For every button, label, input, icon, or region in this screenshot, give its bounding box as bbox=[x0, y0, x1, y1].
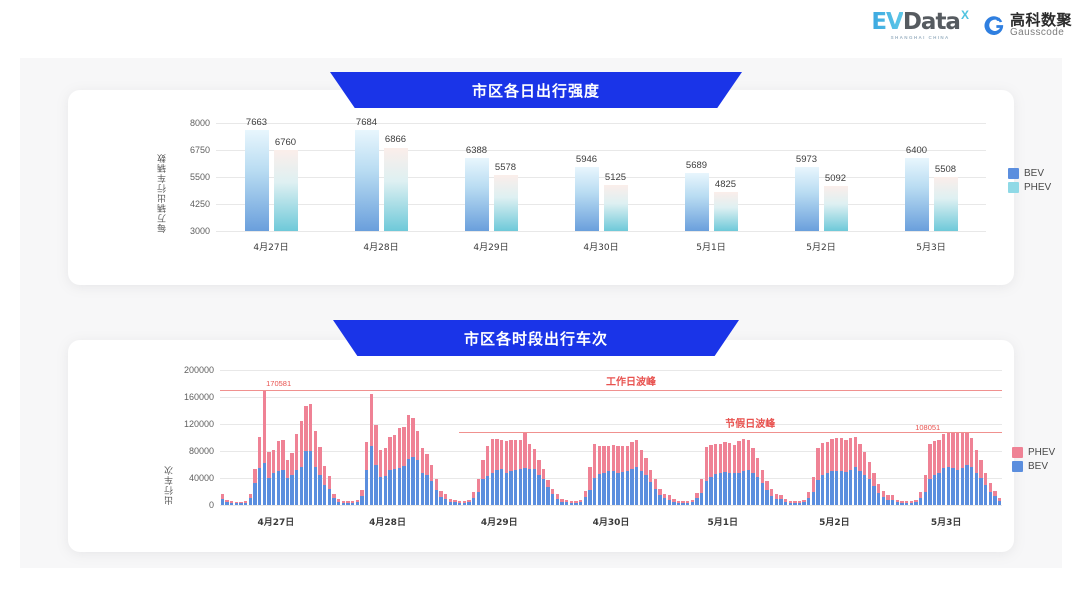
chart2-segment-bev bbox=[398, 468, 401, 505]
chart1-bar-phev bbox=[714, 192, 738, 231]
chart1-x-tick-label: 5月1日 bbox=[666, 240, 756, 253]
chart2-segment-bev bbox=[900, 503, 903, 505]
chart2-segment-bev bbox=[239, 503, 242, 505]
chart2-segment-bev bbox=[612, 471, 615, 505]
chart2-stacked-bar bbox=[626, 446, 629, 505]
page-header: EV Data X SHANGHAI CHINA 高科数聚 Gausscode bbox=[0, 0, 1080, 58]
chart2-segment-bev bbox=[863, 475, 866, 505]
chart2-segment-bev bbox=[882, 497, 885, 505]
chart2-x-tick-label: 4月28日 bbox=[343, 515, 433, 528]
chart2-stacked-bar bbox=[360, 490, 363, 505]
chart2-segment-phev bbox=[626, 446, 629, 471]
chart2-segment-phev bbox=[295, 434, 298, 470]
chart1-legend-item[interactable]: PHEV bbox=[1008, 182, 1051, 193]
chart2-stacked-bar bbox=[612, 445, 615, 505]
chart2-segment-phev bbox=[849, 438, 852, 470]
chart2-segment-phev bbox=[528, 444, 531, 469]
chart2-segment-bev bbox=[588, 490, 591, 505]
chart2-segment-bev bbox=[709, 477, 712, 505]
chart2-stacked-bar bbox=[905, 501, 908, 505]
chart1-bar-phev bbox=[824, 186, 848, 231]
chart2-segment-phev bbox=[267, 452, 270, 478]
chart2-segment-phev bbox=[826, 442, 829, 474]
chart2-segment-bev bbox=[337, 502, 340, 505]
chart2-y-axis-title: 出行车次 bbox=[163, 370, 176, 505]
chart2-segment-bev bbox=[802, 502, 805, 505]
chart2-stacked-bar bbox=[551, 489, 554, 505]
chart2-segment-bev bbox=[467, 502, 470, 505]
chart2-segment-phev bbox=[607, 446, 610, 472]
chart2-segment-bev bbox=[686, 503, 689, 505]
chart2-segment-bev bbox=[235, 503, 238, 505]
chart2-segment-bev bbox=[560, 502, 563, 505]
chart2-stacked-bar bbox=[812, 477, 815, 505]
chart2-segment-bev bbox=[453, 502, 456, 505]
chart2-segment-bev bbox=[770, 496, 773, 505]
chart1-y-tick-label: 5500 bbox=[190, 172, 210, 182]
chart2-segment-phev bbox=[379, 450, 382, 477]
chart2-segment-bev bbox=[328, 489, 331, 505]
chart2-segment-bev bbox=[775, 499, 778, 505]
chart1-y-tick-label: 4250 bbox=[190, 199, 210, 209]
chart2-segment-bev bbox=[816, 480, 819, 505]
chart2-stacked-bar bbox=[249, 494, 252, 505]
chart2-stacked-bar bbox=[467, 500, 470, 505]
chart2-stacked-bar bbox=[328, 476, 331, 505]
chart2-gridline bbox=[220, 505, 1002, 506]
chart2-segment-phev bbox=[514, 440, 517, 470]
chart2-stacked-bar bbox=[500, 440, 503, 505]
gausscode-text: 高科数聚 Gausscode bbox=[1010, 13, 1072, 39]
chart2-stacked-bar bbox=[863, 452, 866, 505]
chart2-stacked-bar bbox=[686, 501, 689, 505]
chart2-segment-bev bbox=[542, 479, 545, 505]
chart2-segment-bev bbox=[318, 475, 321, 505]
chart2-segment-phev bbox=[430, 465, 433, 481]
chart2-stacked-bar bbox=[439, 491, 442, 505]
chart2-segment-phev bbox=[402, 427, 405, 466]
chart2-stacked-bar bbox=[277, 441, 280, 505]
chart2-segment-phev bbox=[416, 431, 419, 461]
chart2-segment-bev bbox=[244, 503, 247, 505]
chart2-segment-phev bbox=[924, 475, 927, 492]
chart2-segment-bev bbox=[500, 469, 503, 505]
chart2-segment-bev bbox=[640, 471, 643, 505]
chart2-segment-bev bbox=[221, 499, 224, 505]
chart2-segment-bev bbox=[379, 477, 382, 505]
legend-label: PHEV bbox=[1024, 182, 1051, 193]
chart2-segment-bev bbox=[491, 473, 494, 505]
chart2-segment-bev bbox=[365, 470, 368, 505]
chart2-segment-bev bbox=[700, 493, 703, 505]
chart2-segment-bev bbox=[439, 497, 442, 505]
chart2-stacked-bar bbox=[365, 442, 368, 505]
chart2-stacked-bar bbox=[235, 502, 238, 505]
chart1-x-tick-label: 5月2日 bbox=[776, 240, 866, 253]
chart2-y-tick-label: 40000 bbox=[189, 473, 214, 483]
chart2-segment-bev bbox=[281, 470, 284, 505]
chart1-gridline bbox=[216, 231, 986, 232]
chart2-stacked-bar bbox=[244, 501, 247, 505]
chart2-segment-bev bbox=[993, 496, 996, 505]
chart2-segment-bev bbox=[714, 474, 717, 505]
chart1-bar-value-label: 7684 bbox=[345, 117, 389, 128]
chart2-segment-bev bbox=[551, 494, 554, 505]
chart2-stacked-bar bbox=[984, 473, 987, 505]
chart2-stacked-bar bbox=[998, 498, 1001, 505]
chart2-segment-bev bbox=[277, 471, 280, 505]
chart2-segment-bev bbox=[495, 470, 498, 505]
chart2-segment-bev bbox=[472, 498, 475, 505]
chart2-stacked-bar bbox=[858, 444, 861, 505]
chart2-segment-bev bbox=[533, 469, 536, 505]
chart2-stacked-bar bbox=[896, 500, 899, 505]
chart2-stacked-bar bbox=[477, 479, 480, 505]
banner-title-daily: 市区各日出行强度 bbox=[330, 72, 742, 108]
chart2-segment-bev bbox=[509, 471, 512, 505]
chart2-stacked-bar bbox=[868, 462, 871, 505]
chart2-stacked-bar bbox=[584, 491, 587, 505]
chart1-x-tick-label: 4月30日 bbox=[556, 240, 646, 253]
chart2-segment-bev bbox=[290, 475, 293, 505]
chart2-segment-bev bbox=[598, 474, 601, 505]
chart2-segment-phev bbox=[756, 458, 759, 477]
chart2-segment-bev bbox=[989, 492, 992, 506]
chart2-stacked-bar bbox=[742, 439, 745, 505]
chart1-bar-value-label: 7663 bbox=[235, 117, 279, 128]
chart2-segment-bev bbox=[630, 469, 633, 505]
chart2-segment-phev bbox=[253, 469, 256, 483]
chart2-segment-phev bbox=[537, 460, 540, 475]
chart2-segment-bev bbox=[970, 467, 973, 505]
chart2-stacked-bar bbox=[318, 447, 321, 505]
chart1-bar-value-label: 6388 bbox=[455, 145, 499, 156]
chart2-segment-phev bbox=[942, 434, 945, 468]
chart2-segment-bev bbox=[742, 471, 745, 505]
chart1-legend: BEVPHEV bbox=[1008, 168, 1051, 193]
chart2-stacked-bar bbox=[416, 431, 419, 505]
chart2-stacked-bar bbox=[290, 453, 293, 505]
chart2-segment-bev bbox=[733, 473, 736, 505]
chart2-segment-phev bbox=[523, 433, 526, 468]
chart2-stacked-bar bbox=[384, 448, 387, 505]
chart2-segment-phev bbox=[304, 406, 307, 451]
chart2-segment-phev bbox=[742, 439, 745, 471]
evdata-logo: EV Data X SHANGHAI CHINA bbox=[871, 11, 969, 41]
chart2-segment-phev bbox=[723, 442, 726, 472]
chart2-segment-bev bbox=[914, 502, 917, 505]
chart2-segment-bev bbox=[267, 478, 270, 505]
chart2-segment-phev bbox=[281, 440, 284, 470]
chart2-segment-bev bbox=[649, 482, 652, 505]
chart2-segment-phev bbox=[621, 446, 624, 472]
chart2-segment-bev bbox=[435, 490, 438, 505]
chart2-stacked-bar bbox=[304, 406, 307, 505]
chart2-segment-phev bbox=[761, 470, 764, 484]
chart2-segment-bev bbox=[556, 499, 559, 505]
chart2-segment-bev bbox=[593, 478, 596, 505]
chart2-segment-phev bbox=[435, 479, 438, 490]
chart2-stacked-bar bbox=[560, 499, 563, 505]
chart2-segment-phev bbox=[816, 448, 819, 480]
chart2-stacked-bar bbox=[765, 481, 768, 505]
chart1-bar-phev bbox=[604, 185, 628, 231]
chart2-stacked-bar bbox=[430, 465, 433, 505]
chart2-segment-bev bbox=[668, 500, 671, 505]
chart2-segment-bev bbox=[300, 467, 303, 505]
chart2-y-tick-label: 200000 bbox=[184, 365, 214, 375]
chart2-segment-bev bbox=[747, 470, 750, 505]
chart2-segment-phev bbox=[509, 440, 512, 471]
chart2-y-tick-label: 0 bbox=[209, 500, 214, 510]
chart2-stacked-bar bbox=[663, 494, 666, 505]
chart2-legend-item[interactable]: BEV bbox=[1012, 461, 1055, 472]
chart2-segment-bev bbox=[626, 471, 629, 505]
chart2-stacked-bar bbox=[826, 442, 829, 505]
chart2-segment-bev bbox=[314, 467, 317, 505]
chart2-stacked-bar bbox=[346, 501, 349, 505]
chart2-segment-bev bbox=[309, 451, 312, 505]
chart2-segment-phev bbox=[654, 479, 657, 488]
chart2-segment-phev bbox=[705, 447, 708, 481]
chart2-stacked-bar bbox=[668, 495, 671, 505]
legend-swatch bbox=[1012, 461, 1023, 472]
chart2-stacked-bar bbox=[537, 460, 540, 505]
chart2-stacked-bar bbox=[491, 439, 494, 505]
chart2-stacked-bar bbox=[281, 440, 284, 505]
chart2-stacked-bar bbox=[793, 501, 796, 505]
chart2-segment-bev bbox=[444, 499, 447, 505]
chart2-segment-phev bbox=[421, 448, 424, 473]
chart2-stacked-bar bbox=[737, 441, 740, 505]
banner-title-hourly: 市区各时段出行车次 bbox=[333, 320, 739, 356]
chart2-segment-bev bbox=[947, 467, 950, 505]
chart2-stacked-bar bbox=[546, 480, 549, 505]
chart2-segment-bev bbox=[249, 498, 252, 505]
chart2-stacked-bar bbox=[309, 404, 312, 505]
chart2-stacked-bar bbox=[789, 501, 792, 505]
chart2-segment-bev bbox=[951, 468, 954, 505]
chart2-segment-bev bbox=[905, 503, 908, 505]
slide-page: EV Data X SHANGHAI CHINA 高科数聚 Gausscode bbox=[0, 0, 1080, 608]
chart2-stacked-bar bbox=[314, 431, 317, 505]
chart2-stacked-bar bbox=[267, 452, 270, 505]
chart2-annotation-line-holiday-peak bbox=[459, 432, 1002, 433]
chart2-segment-bev bbox=[728, 473, 731, 505]
chart2-segment-phev bbox=[505, 441, 508, 473]
chart2-segment-bev bbox=[793, 503, 796, 505]
chart2-segment-bev bbox=[854, 467, 857, 505]
chart2-segment-phev bbox=[714, 444, 717, 474]
chart2-stacked-bar bbox=[928, 444, 931, 505]
chart2-stacked-bar bbox=[714, 444, 717, 505]
chart2-segment-bev bbox=[477, 492, 480, 506]
chart2-stacked-bar bbox=[509, 440, 512, 505]
chart2-stacked-bar bbox=[225, 500, 228, 505]
chart2-segment-phev bbox=[323, 466, 326, 485]
chart2-stacked-bar bbox=[882, 491, 885, 505]
chart2-segment-bev bbox=[388, 470, 391, 505]
chart2-segment-bev bbox=[323, 485, 326, 505]
chart2-segment-phev bbox=[365, 442, 368, 470]
chart2-stacked-bar bbox=[849, 438, 852, 506]
chart2-segment-phev bbox=[984, 473, 987, 485]
chart2-stacked-bar bbox=[598, 446, 601, 505]
chart2-holiday-peak-value: 108051 bbox=[915, 423, 940, 432]
chart2-segment-bev bbox=[658, 495, 661, 505]
chart2-segment-phev bbox=[835, 438, 838, 470]
chart2-segment-bev bbox=[723, 472, 726, 505]
evdata-logo-subtitle: SHANGHAI CHINA bbox=[891, 36, 950, 41]
chart2-segment-bev bbox=[751, 473, 754, 505]
chart1-x-tick-label: 4月29日 bbox=[446, 240, 536, 253]
chart2-segment-phev bbox=[630, 442, 633, 469]
chart1-bar-value-label: 5092 bbox=[814, 173, 858, 184]
chart2-segment-bev bbox=[481, 479, 484, 505]
chart2-segment-phev bbox=[374, 425, 377, 465]
chart2-segment-phev bbox=[411, 418, 414, 457]
chart2-stacked-bar bbox=[695, 493, 698, 505]
chart2-segment-bev bbox=[635, 467, 638, 505]
chart2-stacked-bar bbox=[761, 470, 764, 505]
chart2-stacked-bar bbox=[937, 440, 940, 505]
chart2-segment-bev bbox=[737, 473, 740, 505]
chart2-stacked-bar bbox=[444, 494, 447, 505]
chart2-stacked-bar bbox=[681, 501, 684, 505]
chart2-segment-bev bbox=[360, 496, 363, 505]
chart1-x-tick-label: 4月28日 bbox=[336, 240, 426, 253]
chart1-bar-value-label: 4825 bbox=[704, 179, 748, 190]
chart2-segment-bev bbox=[430, 481, 433, 505]
chart2-segment-bev bbox=[672, 502, 675, 505]
chart2-stacked-bar bbox=[798, 501, 801, 505]
chart2-legend-item[interactable]: PHEV bbox=[1012, 447, 1055, 458]
chart2-stacked-bar bbox=[816, 448, 819, 505]
chart2-segment-bev bbox=[886, 500, 889, 505]
chart2-segment-bev bbox=[342, 503, 345, 505]
chart2-segment-bev bbox=[868, 479, 871, 505]
chart2-segment-phev bbox=[477, 479, 480, 491]
chart2-segment-phev bbox=[844, 440, 847, 472]
chart1-bar-value-label: 5946 bbox=[565, 154, 609, 165]
chart2-segment-phev bbox=[737, 441, 740, 473]
chart1-bar-value-label: 5125 bbox=[594, 172, 638, 183]
chart2-stacked-bar bbox=[854, 437, 857, 505]
chart2-stacked-bar bbox=[747, 440, 750, 505]
chart1-bar-value-label: 6760 bbox=[264, 137, 308, 148]
chart2-segment-bev bbox=[402, 466, 405, 505]
logo-group: EV Data X SHANGHAI CHINA 高科数聚 Gausscode bbox=[871, 11, 1072, 41]
chart2-segment-phev bbox=[598, 446, 601, 474]
chart2-segment-bev bbox=[663, 498, 666, 505]
chart2-segment-bev bbox=[570, 503, 573, 505]
chart2-stacked-bar bbox=[519, 440, 522, 505]
chart2-stacked-bar bbox=[435, 479, 438, 505]
chart2-segment-phev bbox=[491, 439, 494, 473]
chart2-segment-bev bbox=[691, 502, 694, 505]
chart2-segment-phev bbox=[928, 444, 931, 479]
chart2-segment-phev bbox=[863, 452, 866, 475]
chart2-stacked-bar bbox=[356, 500, 359, 505]
chart2-segment-bev bbox=[602, 473, 605, 505]
chart2-segment-bev bbox=[998, 501, 1001, 505]
chart2-stacked-bar bbox=[844, 440, 847, 505]
chart2-stacked-bar bbox=[728, 443, 731, 505]
chart2-stacked-bar bbox=[523, 433, 526, 505]
chart2-segment-bev bbox=[910, 503, 913, 505]
chart2-segment-phev bbox=[546, 480, 549, 487]
chart2-segment-bev bbox=[840, 471, 843, 505]
chart2-stacked-bar bbox=[388, 437, 391, 505]
chart2-segment-phev bbox=[258, 437, 261, 468]
chart2-stacked-bar bbox=[989, 483, 992, 505]
chart1-x-tick-label: 5月3日 bbox=[886, 240, 976, 253]
chart2-segment-phev bbox=[812, 477, 815, 492]
chart2-segment-phev bbox=[877, 484, 880, 493]
chart1-legend-item[interactable]: BEV bbox=[1008, 168, 1051, 179]
chart2-legend: PHEVBEV bbox=[1012, 447, 1055, 472]
chart2-segment-bev bbox=[346, 503, 349, 505]
chart2-segment-bev bbox=[877, 493, 880, 505]
chart2-segment-phev bbox=[542, 469, 545, 480]
chart2-stacked-bar bbox=[407, 415, 410, 505]
legend-label: BEV bbox=[1024, 168, 1044, 179]
chart2-stacked-bar bbox=[472, 492, 475, 505]
chart2-segment-phev bbox=[937, 440, 940, 472]
chart2-stacked-bar bbox=[779, 495, 782, 505]
chart2-x-tick-label: 4月30日 bbox=[566, 515, 656, 528]
chart2-segment-phev bbox=[481, 460, 484, 479]
chart2-segment-bev bbox=[272, 473, 275, 505]
chart2-stacked-bar bbox=[421, 448, 424, 505]
chart2-stacked-bar bbox=[621, 446, 624, 505]
chart2-stacked-bar bbox=[951, 433, 954, 505]
chart2-segment-phev bbox=[733, 445, 736, 473]
chart2-segment-bev bbox=[616, 473, 619, 505]
chart2-stacked-bar bbox=[970, 438, 973, 505]
chart2-stacked-bar bbox=[458, 501, 461, 505]
chart2-segment-phev bbox=[979, 460, 982, 478]
chart2-x-tick-label: 4月27日 bbox=[231, 515, 321, 528]
chart2-stacked-bar bbox=[337, 499, 340, 505]
chart2-stacked-bar bbox=[556, 494, 559, 505]
chart2-segment-bev bbox=[374, 465, 377, 506]
chart2-stacked-bar bbox=[253, 469, 256, 505]
chart2-segment-bev bbox=[937, 473, 940, 505]
chart2-segment-phev bbox=[593, 444, 596, 478]
chart2-stacked-bar bbox=[830, 439, 833, 505]
chart1-bar-value-label: 6866 bbox=[374, 134, 418, 145]
chart2-segment-bev bbox=[458, 503, 461, 505]
chart2-segment-bev bbox=[872, 486, 875, 505]
chart2-segment-bev bbox=[263, 463, 266, 505]
chart2-y-tick-label: 80000 bbox=[189, 446, 214, 456]
chart2-stacked-bar bbox=[956, 433, 959, 505]
chart2-segment-bev bbox=[961, 468, 964, 505]
chart2-segment-phev bbox=[314, 431, 317, 467]
chart2-stacked-bar bbox=[891, 495, 894, 505]
chart2-segment-bev bbox=[486, 476, 489, 505]
chart2-stacked-bar bbox=[784, 499, 787, 505]
chart1-y-tick-label: 3000 bbox=[190, 226, 210, 236]
chart2-segment-bev bbox=[565, 502, 568, 505]
chart2-stacked-bar bbox=[775, 494, 778, 505]
chart2-segment-bev bbox=[393, 469, 396, 505]
chart2-segment-bev bbox=[891, 500, 894, 505]
chart2-segment-phev bbox=[277, 441, 280, 471]
chart2-segment-phev bbox=[588, 467, 591, 491]
chart2-stacked-bar bbox=[607, 446, 610, 505]
